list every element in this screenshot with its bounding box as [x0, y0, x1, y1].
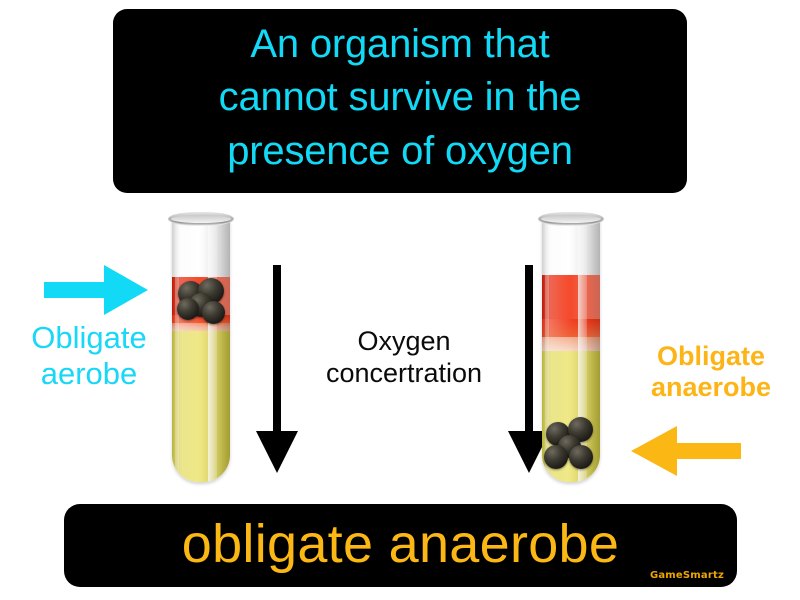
obligate-anaerobe-test-tube — [542, 212, 600, 482]
tube-rim — [168, 212, 234, 226]
definition-text: An organism that cannot survive in the p… — [219, 18, 582, 178]
tube-glass-body — [542, 219, 600, 482]
oxygen-gradient-arrow-left-icon — [256, 265, 298, 473]
tube-rim-inner — [541, 215, 601, 223]
bacteria-colony — [177, 298, 199, 320]
growth-medium — [172, 331, 230, 482]
tube-glass-body — [172, 219, 230, 482]
bacteria-colony — [544, 445, 568, 469]
watermark-label: GameSmartz — [650, 570, 724, 581]
tube-rim — [538, 212, 604, 226]
obligate-aerobe-test-tube — [172, 212, 230, 482]
bacteria-colony — [202, 301, 225, 324]
arrow-right-icon — [44, 263, 148, 317]
oxygen-concentration-caption: Oxygen concertration — [300, 325, 508, 390]
obligate-aerobe-label: Obligate aerobe — [0, 320, 178, 392]
definition-banner: An organism that cannot survive in the p… — [113, 9, 687, 193]
term-title-banner: obligate anaerobe GameSmartz — [64, 504, 737, 587]
arrow-left-icon — [631, 424, 741, 478]
term-title-text: obligate anaerobe — [182, 517, 619, 571]
bacteria-colony — [569, 445, 593, 469]
obligate-anaerobe-label: Obligate anaerobe — [616, 341, 800, 404]
tube-rim-inner — [171, 215, 231, 223]
